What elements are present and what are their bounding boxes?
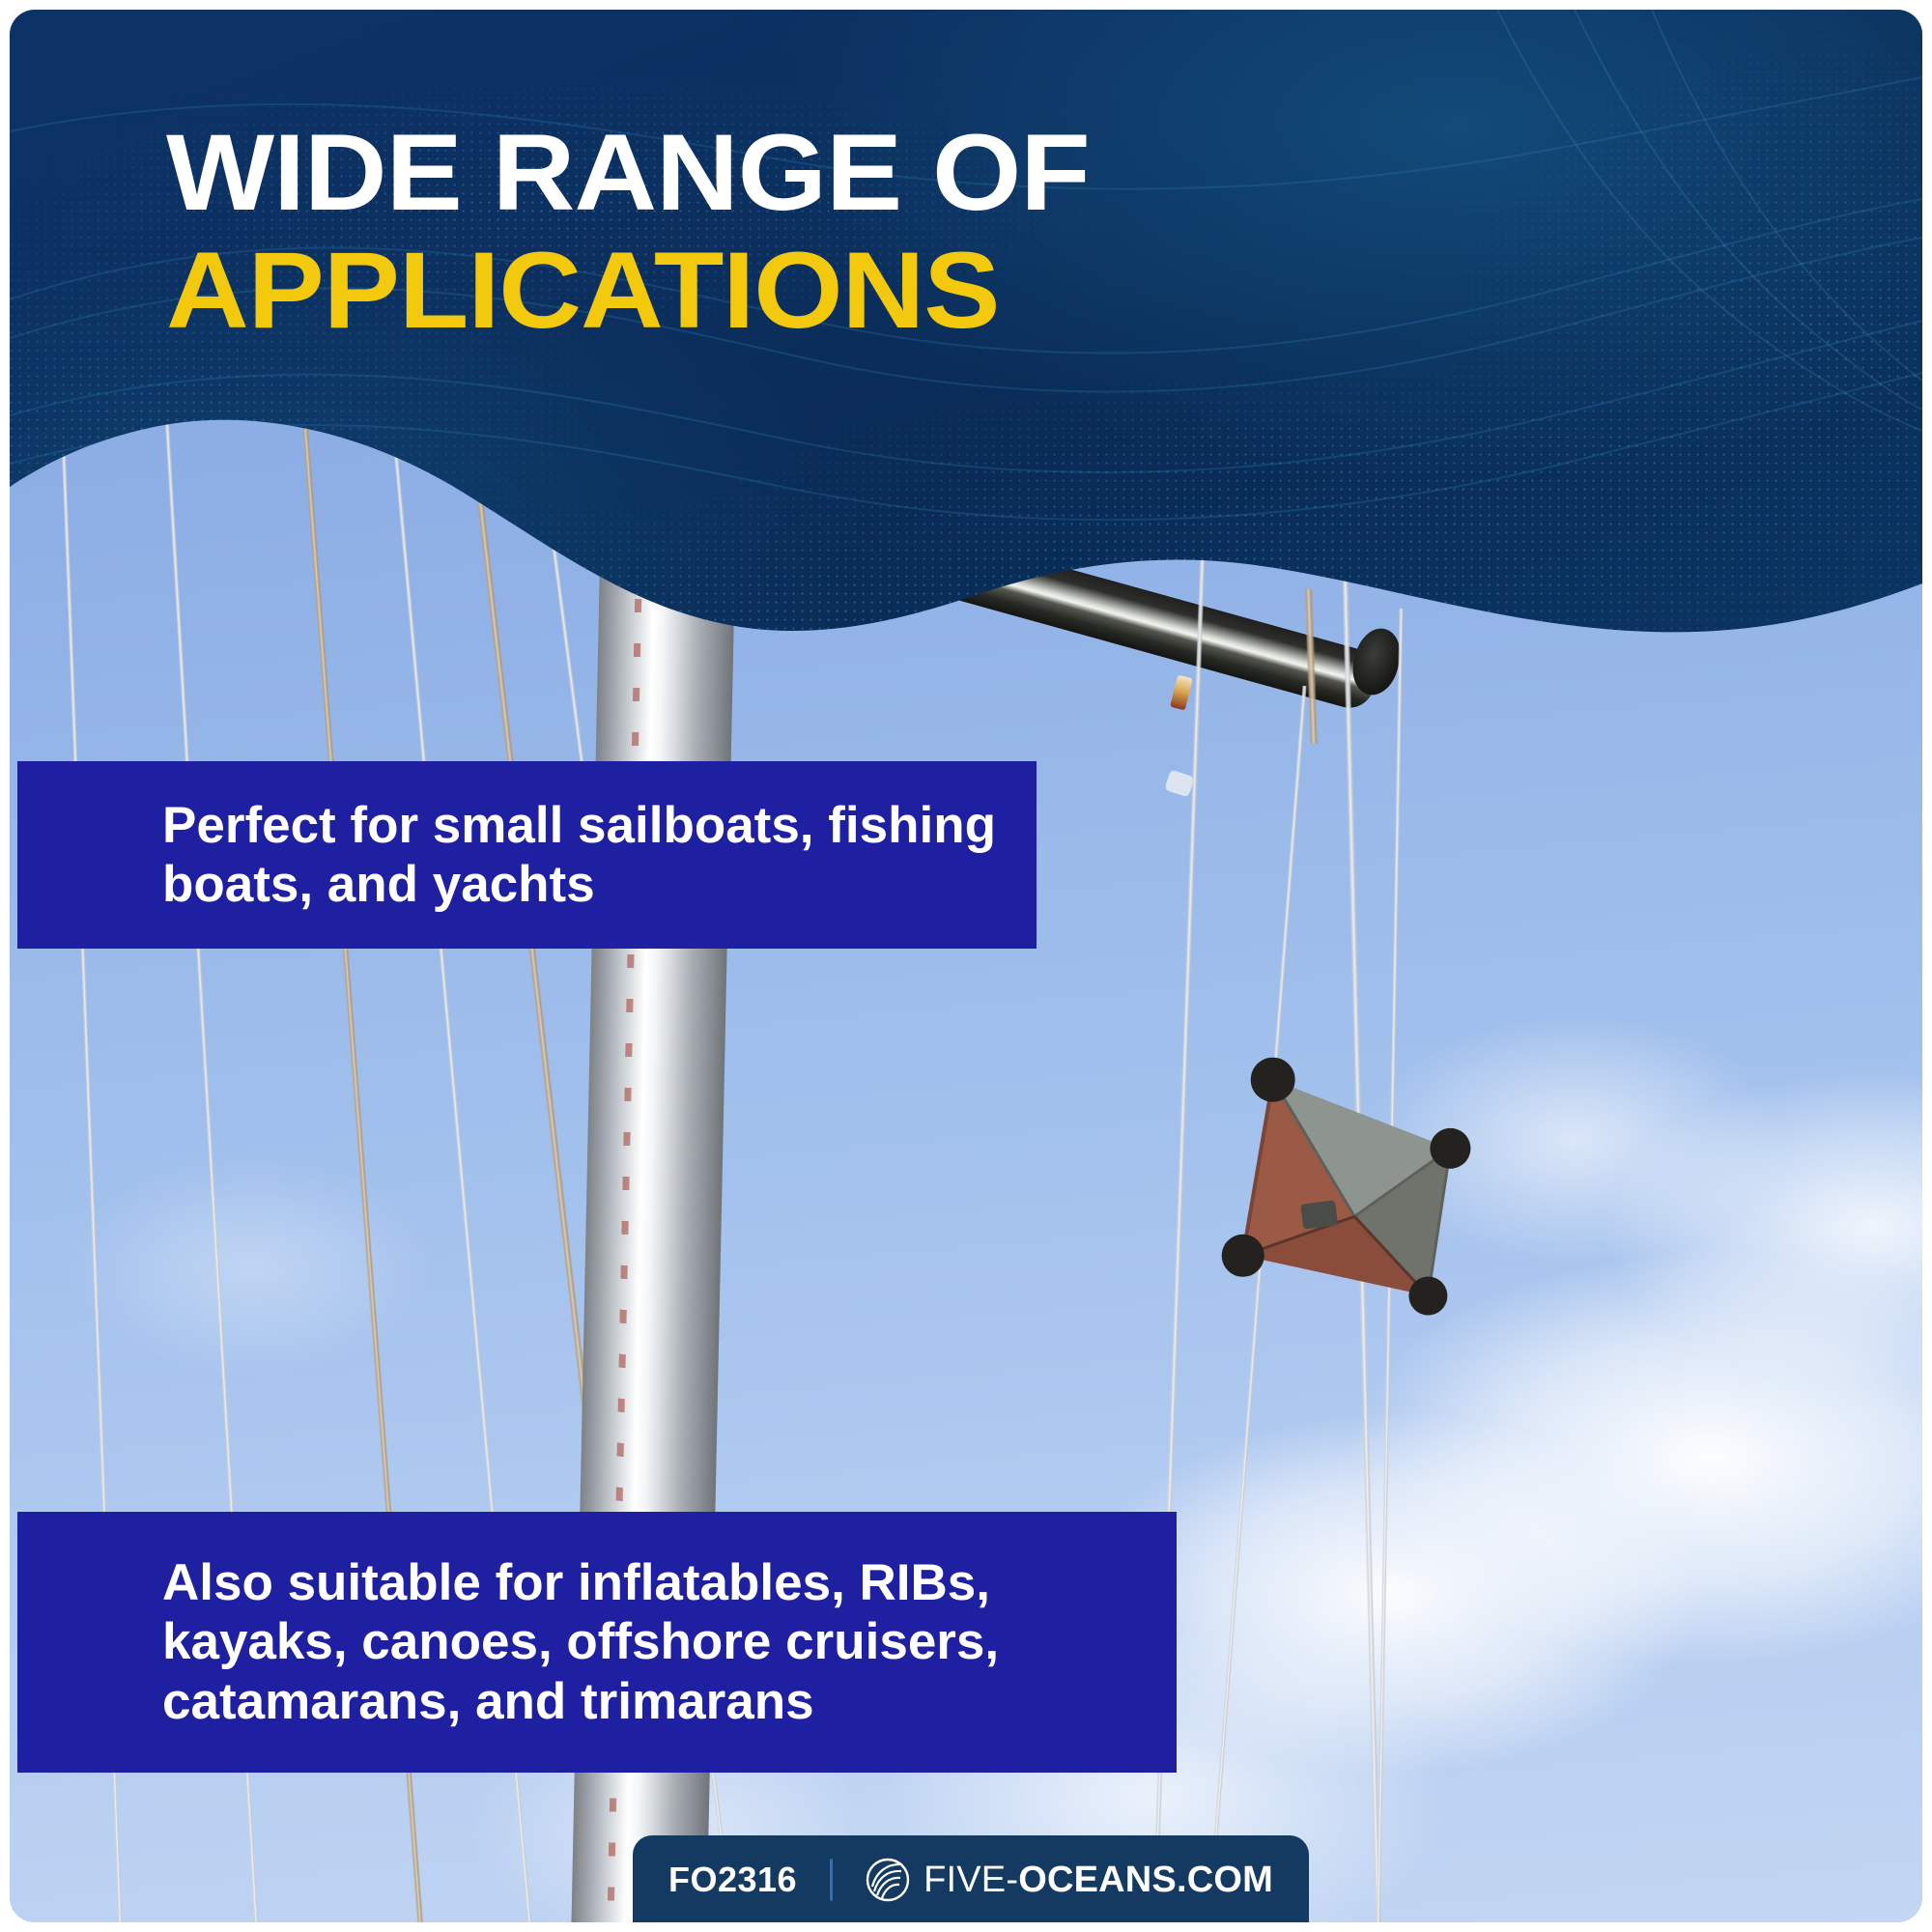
shell-wave-icon [866,1858,910,1902]
brand-domain-suffix: OCEANS.COM [1018,1860,1273,1900]
brand-domain-prefix: FIVE- [923,1860,1018,1900]
brand-domain: FIVE-OCEANS.COM [923,1860,1273,1901]
product-sku: FO2316 [668,1860,797,1900]
title-line-primary: WIDE RANGE OF [166,118,1090,228]
poster-card: WIDE RANGE OF APPLICATIONS Perfect for s… [10,10,1922,1922]
header-band: WIDE RANGE OF APPLICATIONS [10,10,1922,647]
feature-callout-secondary-text: Also suitable for inflatables, RIBs, kay… [162,1553,1177,1731]
feature-callout-primary-text: Perfect for small sailboats, fishing boa… [162,796,1037,915]
radar-reflector [1187,1031,1494,1346]
feature-callout-secondary: Also suitable for inflatables, RIBs, kay… [17,1512,1177,1773]
title-line-accent: APPLICATIONS [166,236,1090,346]
page-title: WIDE RANGE OF APPLICATIONS [166,118,1037,346]
footer-divider [830,1859,833,1901]
feature-callout-primary: Perfect for small sailboats, fishing boa… [17,761,1037,949]
footer-bar: FO2316 FIVE-OCEANS.COM [633,1835,1309,1922]
brand-lockup[interactable]: FIVE-OCEANS.COM [866,1858,1273,1902]
